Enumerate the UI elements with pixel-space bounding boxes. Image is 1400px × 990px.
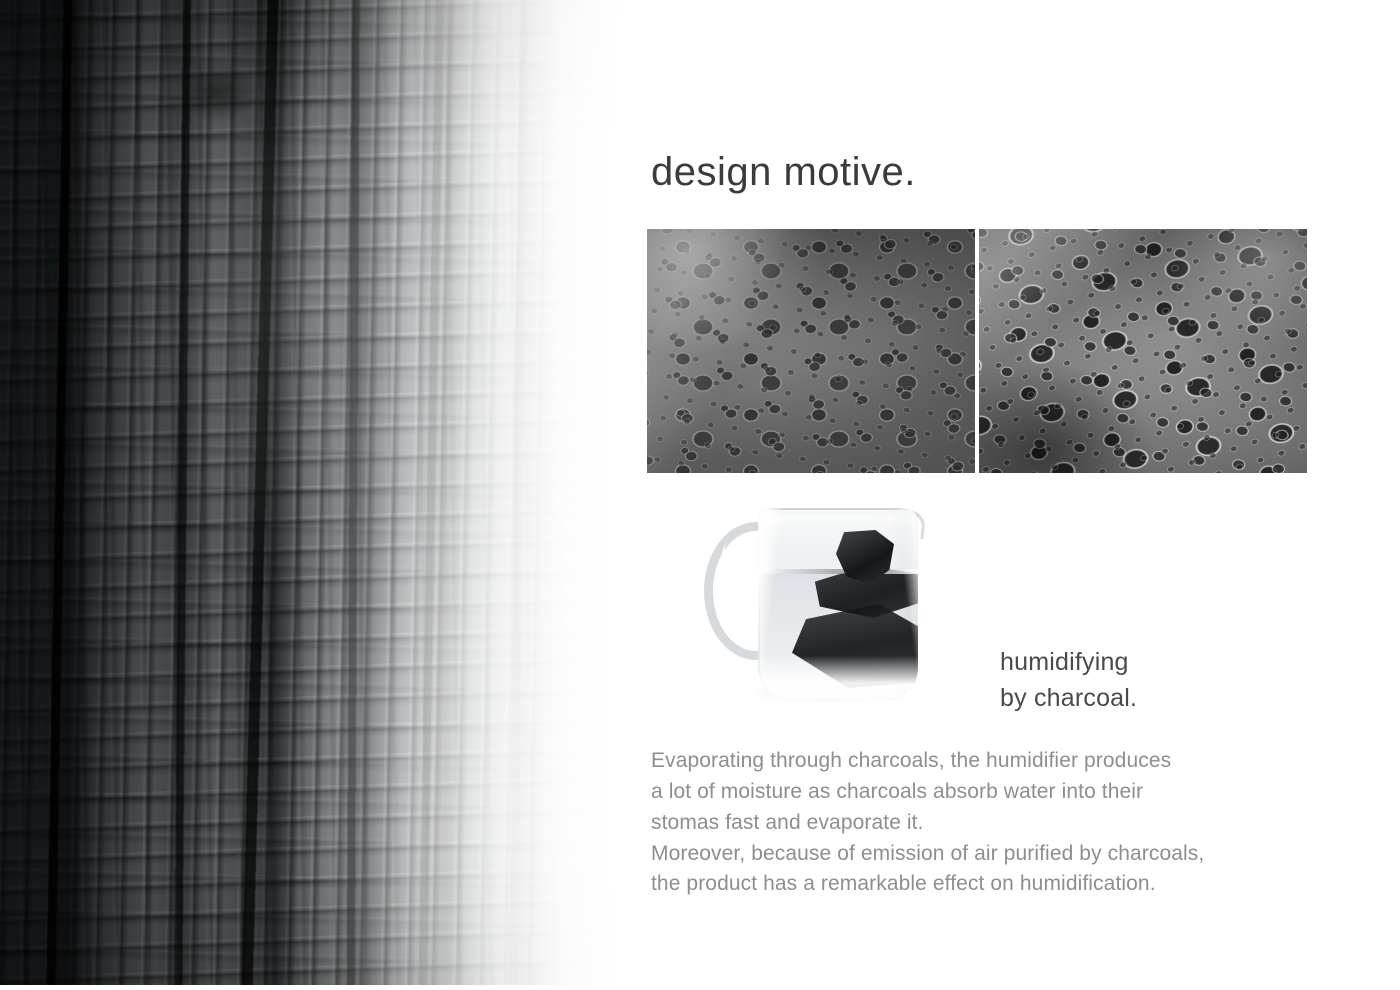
content-column: design motive. <box>651 0 1400 990</box>
product-caption-line-1: humidifying <box>1000 644 1137 680</box>
micrograph-left-shading <box>647 229 975 473</box>
micrograph-right-shading <box>979 229 1307 473</box>
page-title: design motive. <box>651 152 916 192</box>
micrograph-right <box>979 229 1307 473</box>
body-copy: Evaporating through charcoals, the humid… <box>651 746 1204 900</box>
micrograph-strip <box>647 229 1307 473</box>
design-motive-slide: design motive. <box>0 0 1400 990</box>
wood-fade-to-white <box>0 0 660 985</box>
glass-vessel <box>758 508 918 700</box>
micrograph-left <box>647 229 975 473</box>
charred-wood-photo <box>0 0 660 985</box>
product-caption-line-2: by charcoal. <box>1000 680 1137 716</box>
product-caption: humidifying by charcoal. <box>1000 644 1137 716</box>
product-photo <box>696 500 966 715</box>
water-surface-line <box>758 569 918 574</box>
